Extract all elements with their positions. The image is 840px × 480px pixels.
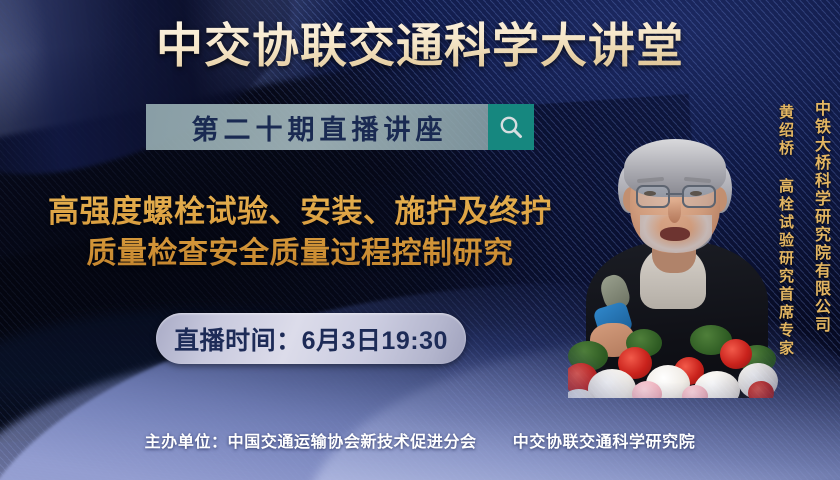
photo-eyeglass-bridge [666,193,682,195]
search-button[interactable] [488,104,534,150]
photo-eyeglass-right [682,185,716,208]
photo-mouth [660,227,690,241]
page-title: 中交协联交通科学大讲堂 [0,18,840,73]
live-lecture-poster: 中交协联交通科学大讲堂 第二十期直播讲座 高强度螺栓试验、安装、施拧及终拧 质量… [0,0,840,480]
bouquet [568,319,778,398]
speaker-name-vertical: 黄绍桥 高栓试验研究首席专家 [775,104,796,358]
lecture-title-line-2: 质量检查安全质量过程控制研究 [10,233,590,275]
footer-institute-label: 中交协联交通科学研究院 [513,434,696,451]
lecture-title: 高强度螺栓试验、安装、施拧及终拧 质量检查安全质量过程控制研究 [10,190,590,275]
broadcast-time-badge: 直播时间：6月3日19:30 [156,313,466,364]
speaker-photo [568,123,778,398]
broadcast-time-label: 直播时间：6月3日19:30 [174,321,448,357]
episode-label: 第二十期直播讲座 [187,108,448,147]
episode-banner: 第二十期直播讲座 [146,104,488,150]
speaker-company-vertical: 中铁大桥科学研究院有限公司 [808,100,832,334]
photo-eyeglass-left [636,185,670,208]
footer-organizers: 主办单位：中国交通运输协会新技术促进分会 中交协联交通科学研究院 [0,428,840,452]
search-icon [498,114,524,140]
lecture-title-line-1: 高强度螺栓试验、安装、施拧及终拧 [10,190,590,233]
footer-organizer-label: 主办单位：中国交通运输协会新技术促进分会 [145,434,477,451]
